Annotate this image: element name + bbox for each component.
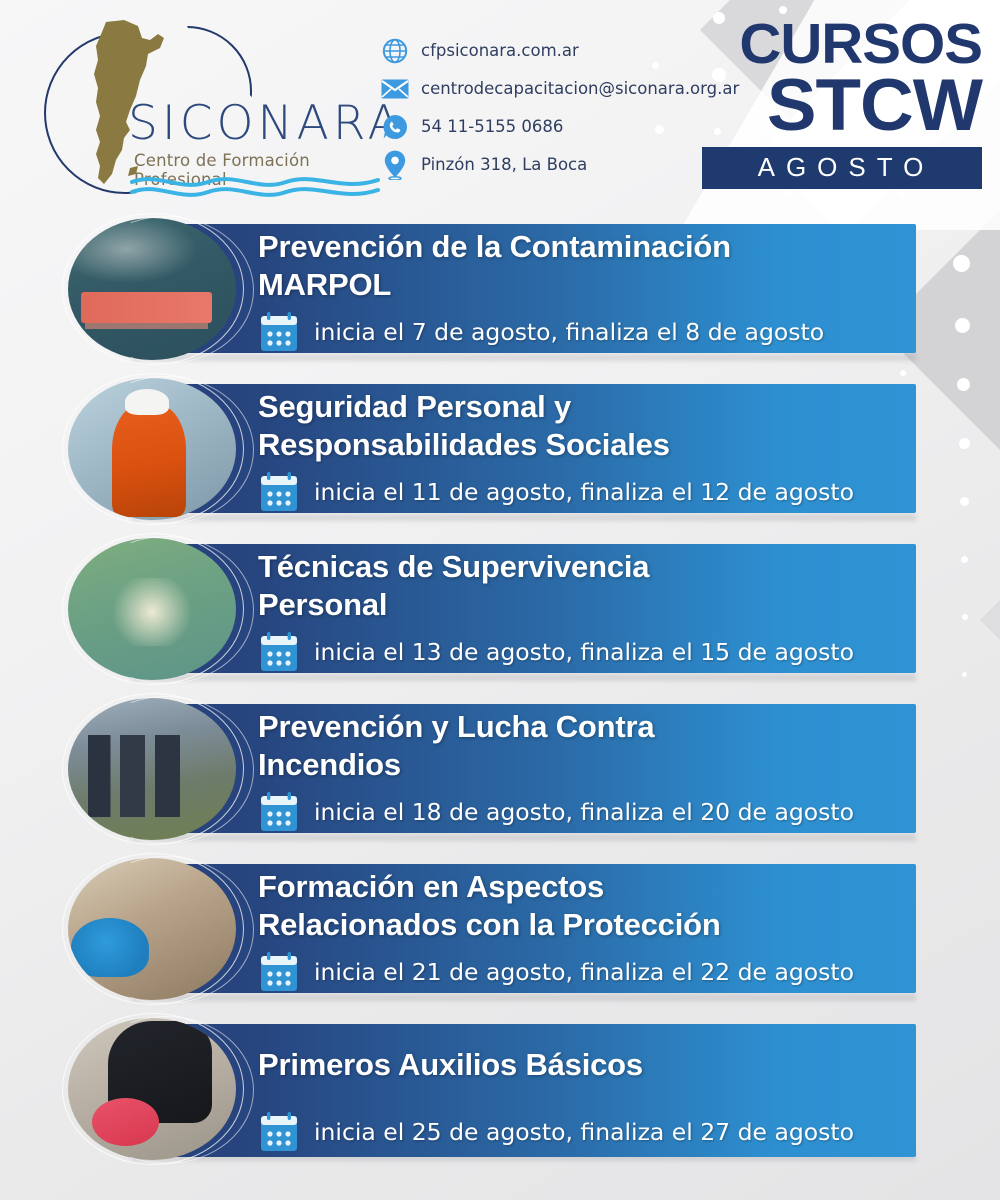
course-thumbnail: [68, 538, 236, 680]
contact-item-phone[interactable]: 54 11-5155 0686: [380, 110, 730, 143]
bar-shadow: [132, 674, 916, 681]
calendar-icon: [258, 470, 300, 514]
cpr-training-photo: [68, 1018, 236, 1160]
bar-shadow: [132, 994, 916, 1001]
course-date-row: inicia el 13 de agosto, finaliza el 15 d…: [258, 630, 970, 674]
calendar-icon: [258, 950, 300, 994]
course-title-line: Primeros Auxilios Básicos: [258, 1046, 970, 1084]
course-thumbnail: [68, 378, 236, 520]
course-row[interactable]: Seguridad Personal y Responsabilidades S…: [0, 378, 1000, 538]
course-title: Prevención y Lucha Contra Incendios: [258, 708, 970, 784]
calendar-icon: [258, 630, 300, 674]
header: SICONARA Centro de Formación Profesional…: [0, 0, 1000, 208]
course-title: Formación en Aspectos Relacionados con l…: [258, 868, 970, 944]
contact-address-text: Pinzón 318, La Boca: [421, 155, 587, 174]
course-row[interactable]: Formación en Aspectos Relacionados con l…: [0, 858, 1000, 1018]
whatsapp-icon: [380, 113, 410, 141]
contact-list: cfpsiconara.com.ar centrodecapacitacion@…: [380, 34, 730, 186]
globe-icon: [380, 37, 410, 65]
course-title-line: Prevención y Lucha Contra: [258, 708, 970, 746]
title-line-stcw: STCW: [696, 72, 982, 139]
survival-raft-water-photo: [68, 538, 236, 680]
course-date-row: inicia el 11 de agosto, finaliza el 12 d…: [258, 470, 970, 514]
course-date-row: inicia el 7 de agosto, finaliza el 8 de …: [258, 310, 970, 354]
worker-orange-suit-photo: [68, 378, 236, 520]
course-text: Prevención de la Contaminación MARPOL in…: [258, 228, 970, 354]
course-title-line: Responsabilidades Sociales: [258, 426, 970, 464]
bar-shadow: [132, 354, 916, 361]
course-text: Formación en Aspectos Relacionados con l…: [258, 868, 970, 994]
course-title-line: Prevención de la Contaminación: [258, 228, 970, 266]
course-title-line: Técnicas de Supervivencia: [258, 548, 970, 586]
course-row[interactable]: Técnicas de Supervivencia Personal inici…: [0, 538, 1000, 698]
course-date-row: inicia el 25 de agosto, finaliza el 27 d…: [258, 1110, 970, 1154]
course-date: inicia el 11 de agosto, finaliza el 12 d…: [314, 478, 854, 506]
course-thumbnail: [68, 1018, 236, 1160]
course-list: Prevención de la Contaminación MARPOL in…: [0, 218, 1000, 1186]
course-date: inicia el 21 de agosto, finaliza el 22 d…: [314, 958, 854, 986]
course-title-line: Personal: [258, 586, 970, 624]
course-row[interactable]: Prevención de la Contaminación MARPOL in…: [0, 218, 1000, 378]
course-text: Seguridad Personal y Responsabilidades S…: [258, 388, 970, 514]
course-date-row: inicia el 21 de agosto, finaliza el 22 d…: [258, 950, 970, 994]
location-pin-icon: [380, 151, 410, 179]
course-thumbnail: [68, 698, 236, 840]
course-title-line: Formación en Aspectos: [258, 868, 970, 906]
calendar-icon: [258, 1110, 300, 1154]
course-title-line: Incendios: [258, 746, 970, 784]
course-title: Seguridad Personal y Responsabilidades S…: [258, 388, 970, 464]
contact-item-address[interactable]: Pinzón 318, La Boca: [380, 148, 730, 181]
course-date: inicia el 18 de agosto, finaliza el 20 d…: [314, 798, 854, 826]
course-title: Prevención de la Contaminación MARPOL: [258, 228, 970, 304]
course-title-line: MARPOL: [258, 266, 970, 304]
cargo-ship-pollution-photo: [68, 218, 236, 360]
course-date: inicia el 13 de agosto, finaliza el 15 d…: [314, 638, 854, 666]
course-title: Primeros Auxilios Básicos: [258, 1046, 970, 1084]
course-text: Técnicas de Supervivencia Personal inici…: [258, 548, 970, 674]
bar-shadow: [132, 834, 916, 841]
course-date: inicia el 7 de agosto, finaliza el 8 de …: [314, 318, 824, 346]
contact-website-text: cfpsiconara.com.ar: [421, 41, 579, 60]
course-title-line: Seguridad Personal y: [258, 388, 970, 426]
course-date-row: inicia el 18 de agosto, finaliza el 20 d…: [258, 790, 970, 834]
course-date: inicia el 25 de agosto, finaliza el 27 d…: [314, 1118, 854, 1146]
course-title-line: Relacionados con la Protección: [258, 906, 970, 944]
title-month-badge: AGOSTO: [702, 147, 982, 189]
bar-shadow: [132, 514, 916, 521]
safety-helmet-port-photo: [68, 858, 236, 1000]
course-row[interactable]: Primeros Auxilios Básicos inicia el 25 d…: [0, 1018, 1000, 1186]
course-title: Técnicas de Supervivencia Personal: [258, 548, 970, 624]
contact-item-website[interactable]: cfpsiconara.com.ar: [380, 34, 730, 67]
course-text: Prevención y Lucha Contra Incendios inic…: [258, 708, 970, 834]
contact-email-text: centrodecapacitacion@siconara.org.ar: [421, 79, 739, 98]
firefighters-training-photo: [68, 698, 236, 840]
title-line-cursos: CURSOS: [696, 18, 982, 70]
course-thumbnail: [68, 218, 236, 360]
contact-phone-text: 54 11-5155 0686: [421, 117, 563, 136]
course-row[interactable]: Prevención y Lucha Contra Incendios inic…: [0, 698, 1000, 858]
contact-item-email[interactable]: centrodecapacitacion@siconara.org.ar: [380, 72, 730, 105]
wave-lines-icon: [130, 172, 380, 202]
course-text: Primeros Auxilios Básicos inicia el 25 d…: [258, 1046, 970, 1154]
poster-title: CURSOS STCW AGOSTO: [702, 18, 982, 189]
calendar-icon: [258, 790, 300, 834]
calendar-icon: [258, 310, 300, 354]
brand-logo[interactable]: SICONARA Centro de Formación Profesional: [30, 12, 375, 202]
envelope-icon: [380, 75, 410, 103]
brand-name: SICONARA: [128, 96, 404, 151]
course-thumbnail: [68, 858, 236, 1000]
